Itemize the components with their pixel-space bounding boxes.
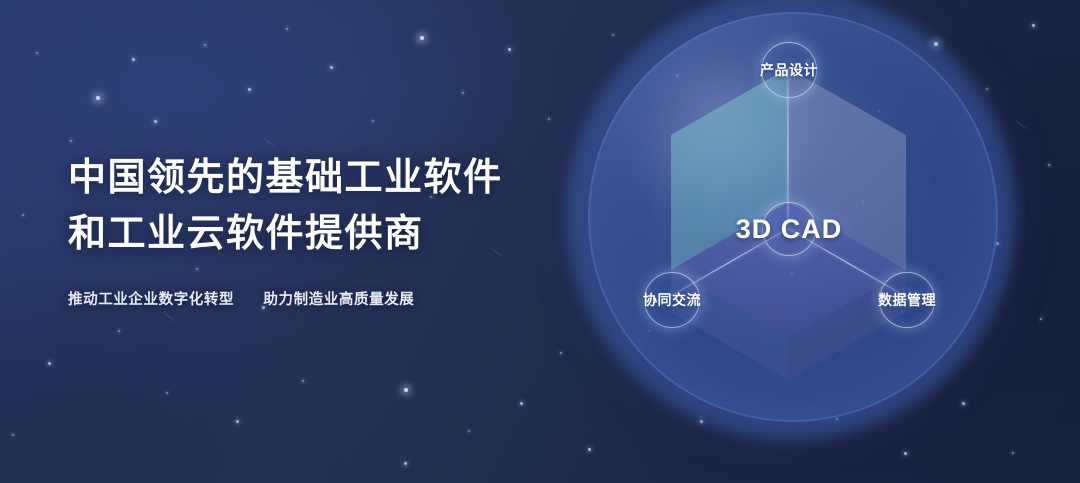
hero-subtitle: 推动工业企业数字化转型 助力制造业高质量发展 (68, 288, 538, 309)
node-data-management[interactable]: 数据管理 (879, 272, 935, 328)
hero-copy: 中国领先的基础工业软件 和工业云软件提供商 推动工业企业数字化转型 助力制造业高… (68, 150, 538, 309)
node-product-design-label: 产品设计 (760, 60, 818, 80)
headline-line-1: 中国领先的基础工业软件 (68, 150, 538, 206)
node-3d-cad[interactable]: 3D CAD (762, 202, 816, 256)
node-data-management-label: 数据管理 (878, 290, 936, 310)
node-collaboration-label: 协同交流 (643, 290, 701, 310)
node-collaboration[interactable]: 协同交流 (644, 272, 700, 328)
headline-line-2: 和工业云软件提供商 (68, 206, 538, 262)
cad-diagram: 产品设计 3D CAD 协同交流 数据管理 (576, 0, 1046, 483)
subtitle-part-2: 助力制造业高质量发展 (263, 292, 414, 308)
subtitle-part-1: 推动工业企业数字化转型 (68, 292, 234, 308)
hero-banner: 中国领先的基础工业软件 和工业云软件提供商 推动工业企业数字化转型 助力制造业高… (0, 0, 1080, 483)
node-product-design[interactable]: 产品设计 (761, 42, 817, 98)
node-3d-cad-label: 3D CAD (736, 214, 843, 245)
